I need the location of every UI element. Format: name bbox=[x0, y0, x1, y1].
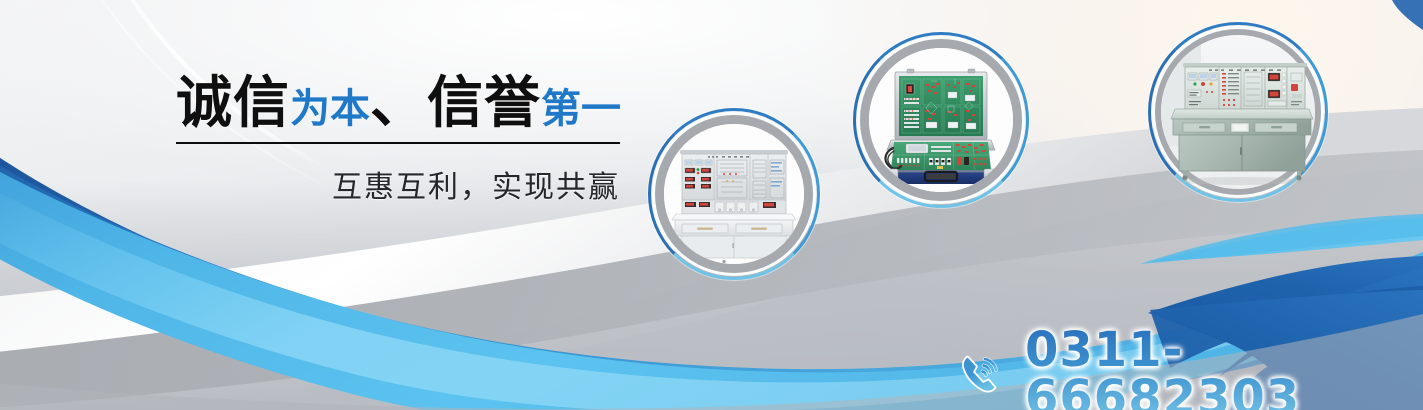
product-circle-1 bbox=[648, 108, 820, 280]
headline-segment-2: 为本 bbox=[290, 87, 370, 131]
divider bbox=[176, 142, 620, 144]
suitcase-trainer-image bbox=[869, 48, 1013, 192]
subtitle: 互惠互利，实现共赢 bbox=[176, 162, 620, 206]
headline-segment-4: 信誉 bbox=[427, 71, 541, 134]
large-workbench-image bbox=[1161, 35, 1315, 189]
headline-segment-5: 第一 bbox=[541, 87, 621, 131]
headline-segment-1: 诚信 bbox=[176, 71, 290, 134]
slogan-block: 诚信为本、信誉第一 互惠互利，实现共赢 bbox=[176, 74, 646, 206]
headline-segment-3: 、 bbox=[370, 71, 427, 134]
contact-phone[interactable]: 0311-66682303 bbox=[955, 326, 1423, 410]
product-circle-3 bbox=[1148, 22, 1328, 202]
promotional-banner: 诚信为本、信誉第一 互惠互利，实现共赢 bbox=[0, 0, 1423, 410]
product-circle-2 bbox=[853, 32, 1029, 208]
page-title: 诚信为本、信誉第一 bbox=[176, 74, 646, 132]
phone-number[interactable]: 0311-66682303 bbox=[1025, 326, 1423, 410]
phone-call-icon bbox=[955, 348, 1007, 400]
workbench-panel-image bbox=[664, 124, 804, 264]
